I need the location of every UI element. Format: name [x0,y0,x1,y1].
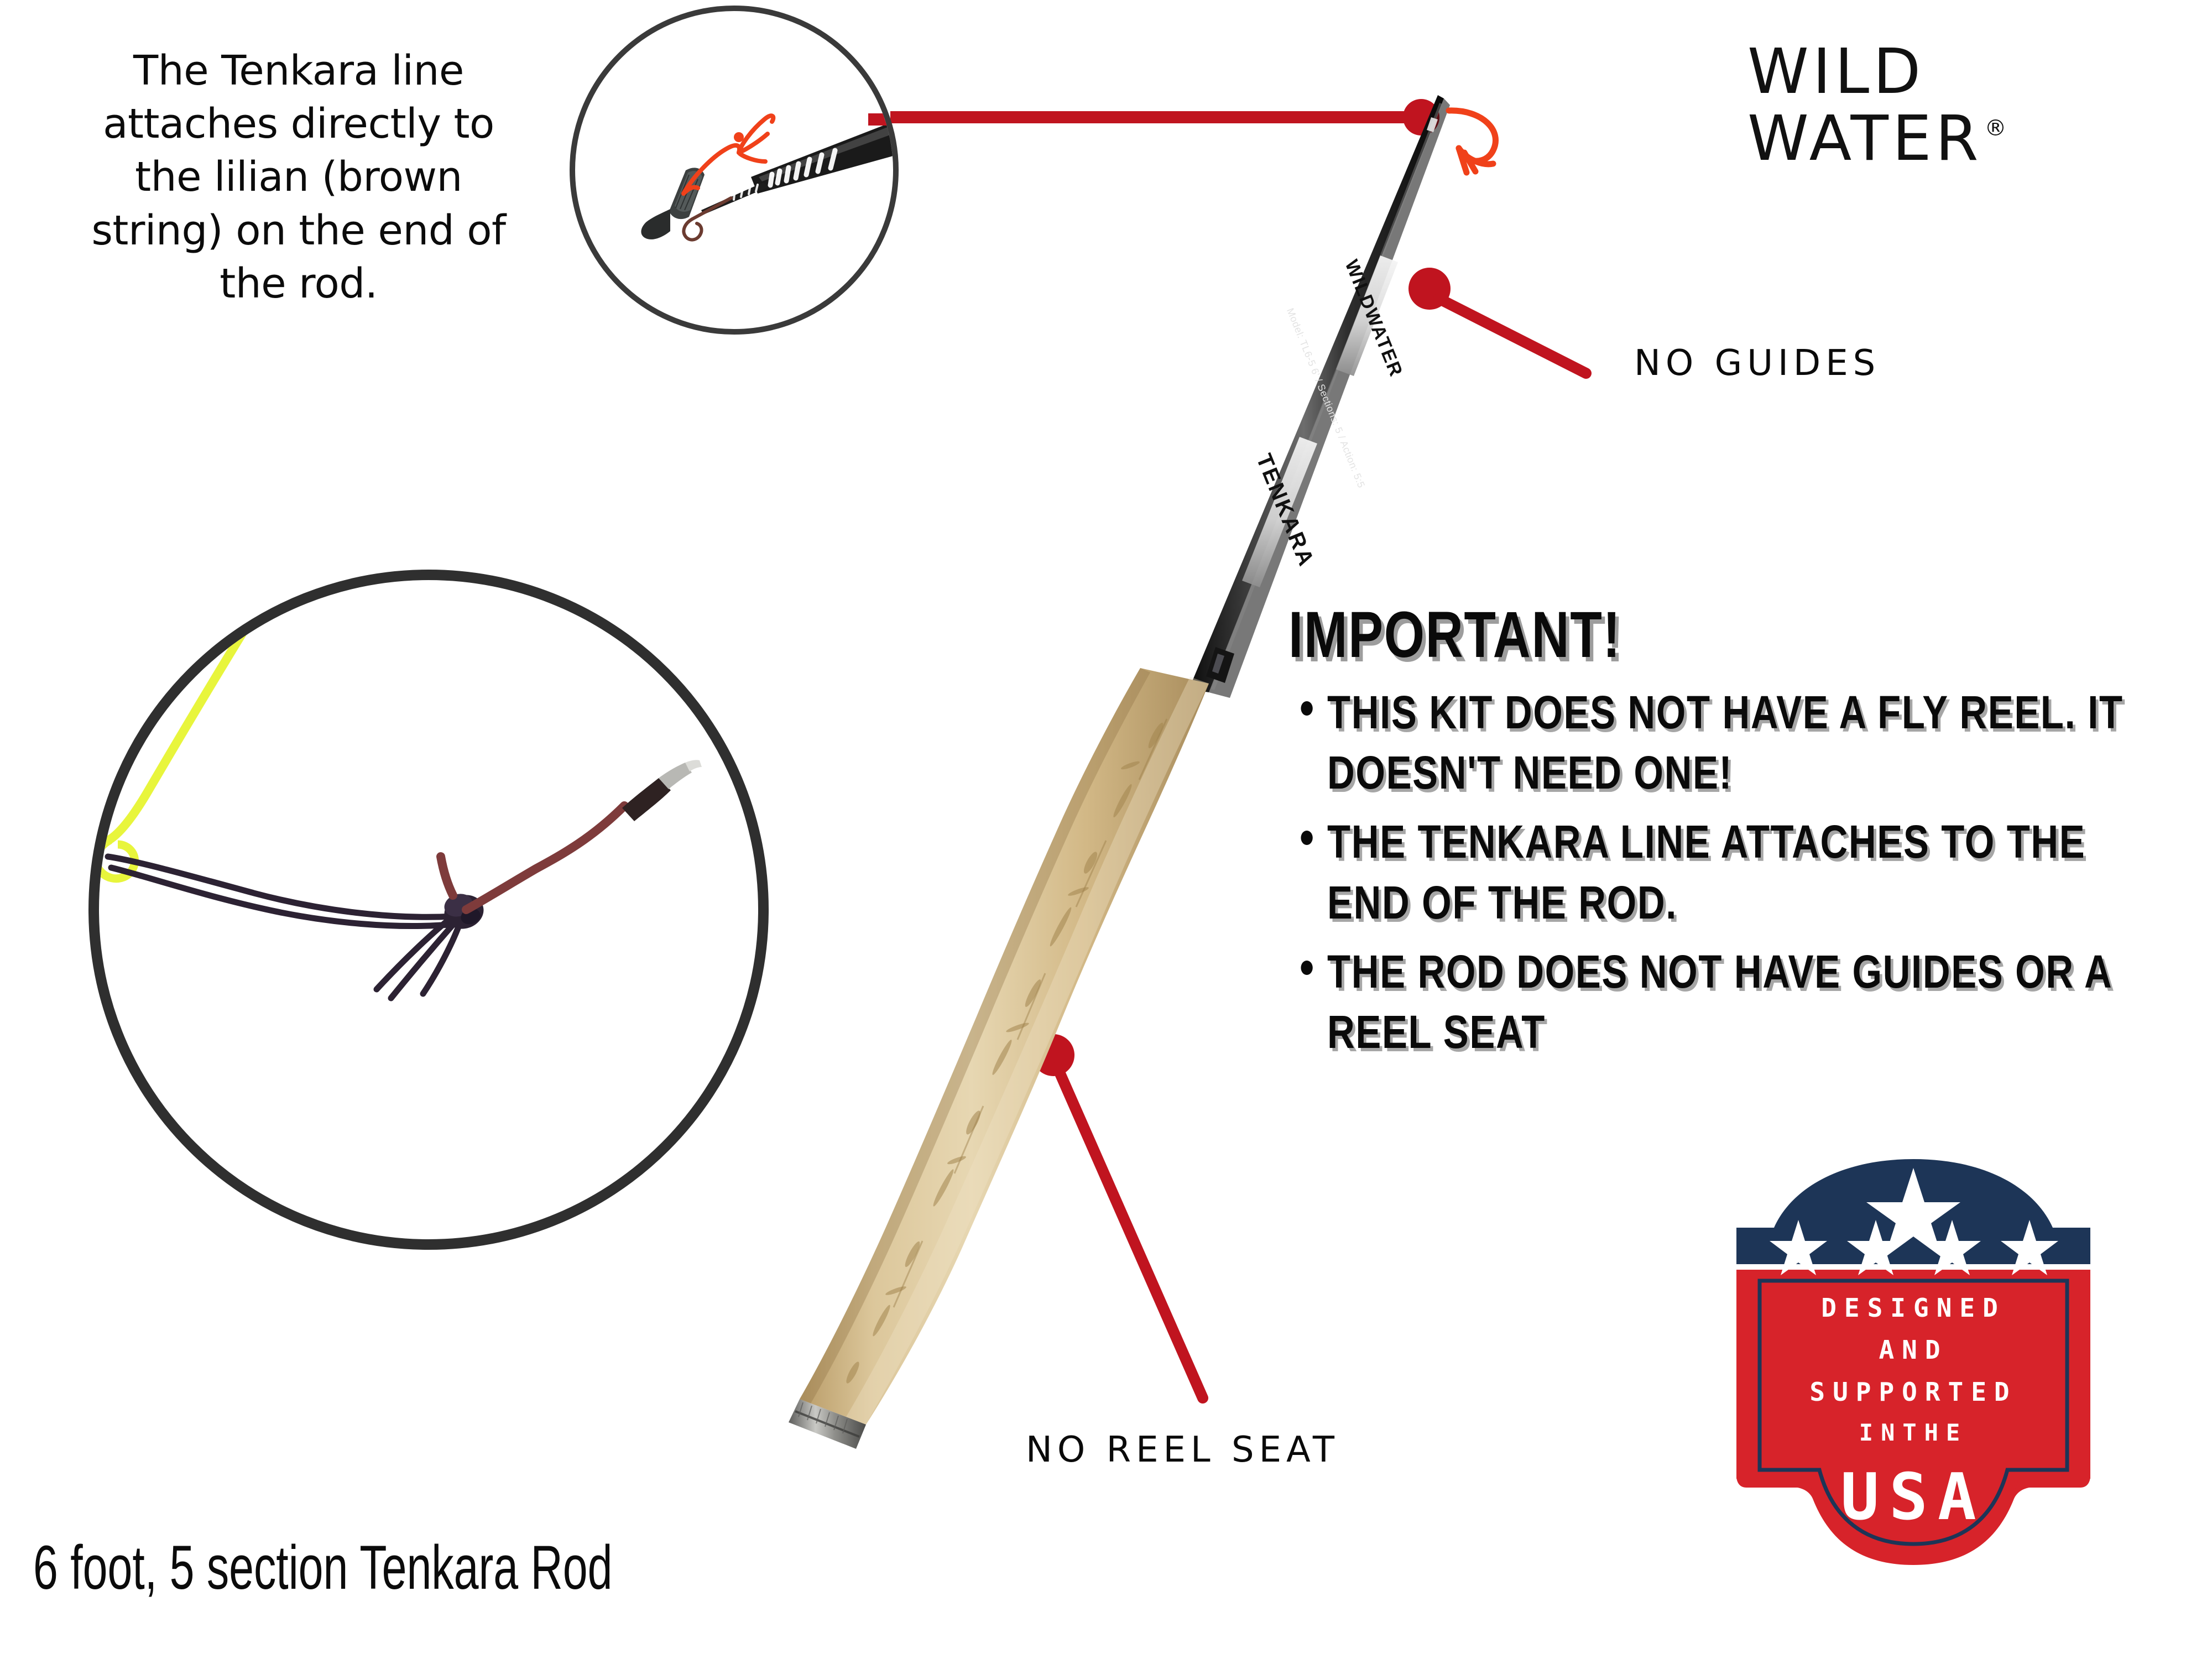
badge-line-supported: SUPPORTED [1731,1377,2096,1407]
important-notice-block: IMPORTANT! THIS KIT DOES NOT HAVE A FLY … [1288,597,2151,1071]
badge-line-inthe: INTHE [1731,1419,2096,1446]
product-caption: 6 foot, 5 section Tenkara Rod [33,1532,612,1603]
brand-logo-line-1: WILD [1747,39,2135,106]
inset-circle-rod-tip [570,6,899,335]
tenkara-line-knot-at-tip [1449,111,1495,173]
inset-tip-art [575,11,893,329]
brand-logo: WILD WATER® [1747,39,2135,177]
important-bullet-list: THIS KIT DOES NOT HAVE A FLY REEL. IT DO… [1288,682,2151,1062]
badge-line-usa: USA [1731,1460,2096,1535]
important-bullet-item: THE ROD DOES NOT HAVE GUIDES OR A REEL S… [1327,942,2125,1062]
brand-logo-line-2-wrap: WATER® [1747,106,2135,173]
callout-label-no-guides: NO GUIDES [1634,343,1880,384]
callout-label-no-reel-seat: NO REEL SEAT [1026,1430,1339,1470]
badge-line-designed: DESIGNED [1731,1293,2096,1323]
bullet-dot-icon [1301,961,1312,975]
brand-logo-line-2: WATER [1747,103,1983,175]
line-knot [734,132,744,142]
important-bullet-text: THIS KIT DOES NOT HAVE A FLY REEL. IT DO… [1327,686,2124,799]
badge-line-and: AND [1731,1335,2096,1365]
bullet-dot-icon [1301,701,1312,716]
designed-in-usa-badge: DESIGNED AND SUPPORTED INTHE USA [1731,1145,2096,1609]
infographic-canvas: The Tenkara line attaches directly to th… [0,0,2212,1659]
inset-knot-art [99,580,758,1239]
tippet-dark-lines [108,857,460,998]
lilian-rod-tip-nub [622,760,702,821]
bullet-dot-icon [1301,831,1312,845]
important-title: IMPORTANT! [1288,597,1979,672]
cork-grip [800,668,1209,1425]
important-bullet-item: THE TENKARA LINE ATTACHES TO THE END OF … [1327,812,2125,932]
important-bullet-item: THIS KIT DOES NOT HAVE A FLY REEL. IT DO… [1327,682,2125,803]
lilian-brown-string [441,806,624,910]
inset-circle-lilian-knot [88,570,769,1250]
important-bullet-text: THE ROD DOES NOT HAVE GUIDES OR A REEL S… [1327,946,2111,1058]
important-bullet-text: THE TENKARA LINE ATTACHES TO THE END OF … [1327,816,2085,928]
registered-trademark-icon: ® [1985,116,2007,141]
